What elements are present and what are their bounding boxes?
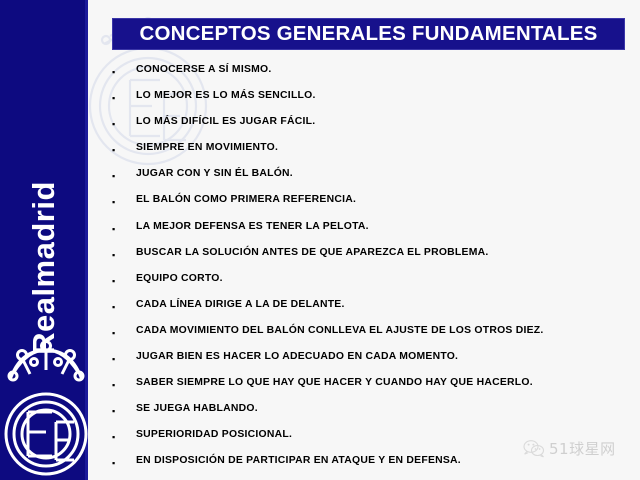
bullet-marker-icon: ▪ [112,401,136,418]
bullet-marker-icon: ▪ [112,140,136,157]
bullet-marker-icon: ▪ [112,245,136,262]
presentation-slide: Realmadrid [0,0,640,480]
list-item-label: BUSCAR LA SOLUCIÓN ANTES DE QUE APAREZCA… [136,245,489,260]
bullet-marker-icon: ▪ [112,62,136,79]
list-item: ▪SABER SIEMPRE LO QUE HAY QUE HACER Y CU… [112,375,632,401]
list-item: ▪CADA MOVIMIENTO DEL BALÓN CONLLEVA EL A… [112,323,632,349]
list-item: ▪CONOCERSE A SÍ MISMO. [112,62,632,88]
bullet-marker-icon: ▪ [112,375,136,392]
list-item: ▪LA MEJOR DEFENSA ES TENER LA PELOTA. [112,219,632,245]
bullet-list: ▪CONOCERSE A SÍ MISMO.▪LO MEJOR ES LO MÁ… [112,62,632,480]
bullet-marker-icon: ▪ [112,88,136,105]
brand-realmadrid-vertical: Realmadrid [26,181,62,355]
list-item: ▪LO MEJOR ES LO MÁS SENCILLO. [112,88,632,114]
list-item-label: LO MEJOR ES LO MÁS SENCILLO. [136,88,316,103]
bullet-marker-icon: ▪ [112,166,136,183]
list-item: ▪SE JUEGA HABLANDO. [112,401,632,427]
list-item: ▪CADA LÍNEA DIRIGE A LA DE DELANTE. [112,297,632,323]
list-item: ▪EL BALÓN COMO PRIMERA REFERENCIA. [112,192,632,218]
bullet-marker-icon: ▪ [112,192,136,209]
site-watermark: 51球星网 [523,438,616,459]
list-item-label: SABER SIEMPRE LO QUE HAY QUE HACER Y CUA… [136,375,533,390]
list-item-label: JUGAR CON Y SIN ÉL BALÓN. [136,166,293,181]
list-item-label: JUGAR BIEN ES HACER LO ADECUADO EN CADA … [136,349,458,364]
list-item: ▪LO MÁS DIFÍCIL ES JUGAR FÁCIL. [112,114,632,140]
list-item-label: LA MEJOR DEFENSA ES TENER LA PELOTA. [136,219,369,234]
list-item: ▪SIEMPRE EN MOVIMIENTO. [112,140,632,166]
bullet-marker-icon: ▪ [112,271,136,288]
list-item: ▪JUGAR CON Y SIN ÉL BALÓN. [112,166,632,192]
wechat-icon [523,439,545,458]
bullet-marker-icon: ▪ [112,219,136,236]
list-item: ▪BUSCAR LA SOLUCIÓN ANTES DE QUE APAREZC… [112,245,632,271]
bullet-marker-icon: ▪ [112,349,136,366]
real-madrid-crest-icon [4,336,88,480]
list-item-label: EQUIPO CORTO. [136,271,223,286]
list-item-label: CONOCERSE A SÍ MISMO. [136,62,272,77]
bullet-marker-icon: ▪ [112,114,136,131]
list-item-label: CADA LÍNEA DIRIGE A LA DE DELANTE. [136,297,345,312]
watermark-text: 51球星网 [549,438,616,459]
bullet-marker-icon: ▪ [112,323,136,340]
list-item-label: EL BALÓN COMO PRIMERA REFERENCIA. [136,192,356,207]
bullet-marker-icon: ▪ [112,297,136,314]
bullet-marker-icon: ▪ [112,453,136,470]
list-item-label: SE JUEGA HABLANDO. [136,401,258,416]
list-item-label: SIEMPRE EN MOVIMIENTO. [136,140,278,155]
page-title: CONCEPTOS GENERALES FUNDAMENTALES [139,22,597,46]
slide-title-banner: CONCEPTOS GENERALES FUNDAMENTALES [112,18,625,50]
list-item: ▪JUGAR BIEN ES HACER LO ADECUADO EN CADA… [112,349,632,375]
bullet-marker-icon: ▪ [112,427,136,444]
list-item-label: CADA MOVIMIENTO DEL BALÓN CONLLEVA EL AJ… [136,323,544,338]
list-item-label: EN DISPOSICIÓN DE PARTICIPAR EN ATAQUE Y… [136,453,461,468]
list-item-label: LO MÁS DIFÍCIL ES JUGAR FÁCIL. [136,114,315,129]
sidebar: Realmadrid [0,0,88,480]
list-item-label: SUPERIORIDAD POSICIONAL. [136,427,292,442]
list-item: ▪EQUIPO CORTO. [112,271,632,297]
